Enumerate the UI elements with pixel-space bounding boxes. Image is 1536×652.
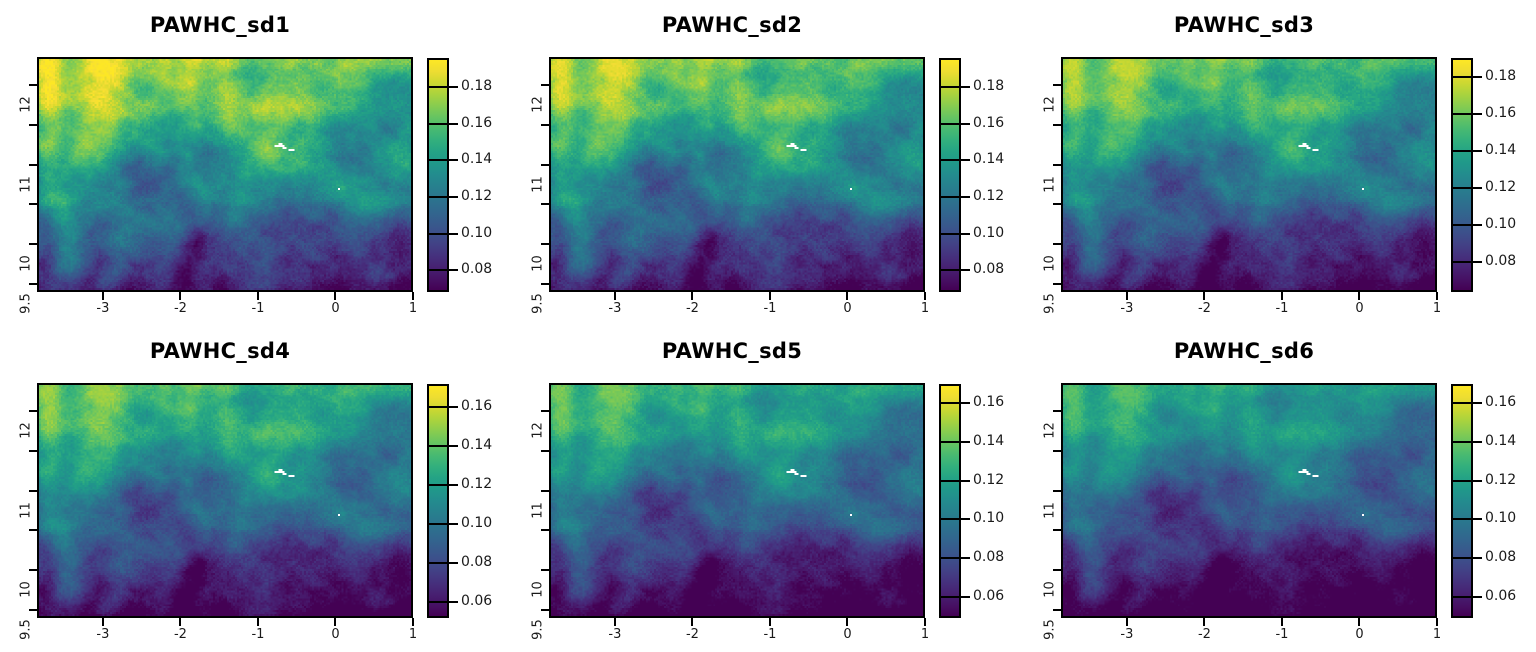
colorbar-gradient bbox=[429, 386, 447, 616]
colorbar-tick-inner bbox=[429, 445, 447, 447]
colorbar-tick-inner bbox=[941, 159, 959, 161]
y-axis-label: 11 bbox=[19, 490, 34, 530]
y-axis-label: 11 bbox=[531, 164, 546, 204]
colorbar-tick bbox=[1473, 557, 1482, 559]
panel-pawhc_sd5: PAWHC_sd51211109.5-3-2-1010.160.140.120.… bbox=[512, 326, 1024, 652]
colorbar-tick-inner bbox=[941, 557, 959, 559]
map-plot-area[interactable] bbox=[1061, 383, 1437, 618]
colorbar-tick bbox=[961, 480, 970, 482]
colorbar-label: 0.14 bbox=[461, 151, 492, 167]
panel-pawhc_sd4: PAWHC_sd41211109.5-3-2-1010.160.140.120.… bbox=[0, 326, 512, 652]
colorbar-tick-inner bbox=[1453, 557, 1471, 559]
colorbar-tick-inner bbox=[429, 523, 447, 525]
colorbar-tick-inner bbox=[1453, 261, 1471, 263]
colorbar-tick-inner bbox=[1453, 113, 1471, 115]
x-axis-label: -2 bbox=[160, 627, 200, 642]
raster-image bbox=[551, 59, 923, 290]
y-axis-label: 12 bbox=[19, 84, 34, 124]
colorbar-tick bbox=[961, 86, 970, 88]
x-axis-tick bbox=[846, 618, 848, 626]
x-axis-tick bbox=[769, 292, 771, 300]
x-axis-tick bbox=[412, 292, 414, 300]
colorbar-label: 0.18 bbox=[1485, 68, 1516, 84]
colorbar bbox=[427, 384, 449, 618]
colorbar-tick-inner bbox=[429, 86, 447, 88]
x-axis-label: -1 bbox=[750, 301, 790, 316]
colorbar-label: 0.12 bbox=[1485, 179, 1516, 195]
colorbar-label: 0.10 bbox=[1485, 510, 1516, 526]
colorbar-label: 0.16 bbox=[973, 115, 1004, 131]
colorbar-label: 0.16 bbox=[461, 398, 492, 414]
colorbar-tick bbox=[961, 196, 970, 198]
panel-pawhc_sd6: PAWHC_sd61211109.5-3-2-1010.160.140.120.… bbox=[1024, 326, 1536, 652]
x-axis-label: 1 bbox=[393, 627, 433, 642]
colorbar-tick-inner bbox=[1453, 596, 1471, 598]
x-axis-label: -2 bbox=[1184, 301, 1224, 316]
colorbar-label: 0.16 bbox=[1485, 394, 1516, 410]
figure-grid: PAWHC_sd11211109.5-3-2-1010.180.160.140.… bbox=[0, 0, 1536, 652]
y-axis-label: 10 bbox=[531, 244, 546, 284]
x-axis-tick bbox=[179, 292, 181, 300]
x-axis-label: 1 bbox=[393, 301, 433, 316]
map-plot-area[interactable] bbox=[37, 57, 413, 292]
colorbar-tick-inner bbox=[1453, 150, 1471, 152]
x-axis-tick bbox=[1203, 618, 1205, 626]
y-axis-label: 12 bbox=[531, 84, 546, 124]
colorbar-label: 0.14 bbox=[461, 437, 492, 453]
colorbar-tick bbox=[1473, 402, 1482, 404]
panel-title: PAWHC_sd5 bbox=[512, 339, 952, 363]
x-axis-label: -1 bbox=[750, 627, 790, 642]
colorbar-tick bbox=[449, 562, 458, 564]
colorbar-label: 0.10 bbox=[1485, 216, 1516, 232]
colorbar-tick-inner bbox=[1453, 402, 1471, 404]
x-axis-tick bbox=[1203, 292, 1205, 300]
colorbar-tick bbox=[449, 123, 458, 125]
colorbar-tick bbox=[961, 159, 970, 161]
colorbar-tick-inner bbox=[1453, 480, 1471, 482]
colorbar bbox=[427, 58, 449, 292]
x-axis-label: -2 bbox=[672, 301, 712, 316]
colorbar-tick-inner bbox=[429, 269, 447, 271]
x-axis-tick bbox=[412, 618, 414, 626]
x-axis-tick bbox=[1126, 618, 1128, 626]
colorbar-label: 0.16 bbox=[461, 115, 492, 131]
colorbar-tick bbox=[1473, 596, 1482, 598]
colorbar bbox=[939, 58, 961, 292]
colorbar-tick-inner bbox=[429, 406, 447, 408]
colorbar-tick bbox=[449, 445, 458, 447]
colorbar-tick bbox=[1473, 480, 1482, 482]
colorbar-label: 0.08 bbox=[1485, 253, 1516, 269]
colorbar-tick bbox=[1473, 187, 1482, 189]
x-axis-tick bbox=[1358, 618, 1360, 626]
map-plot-area[interactable] bbox=[549, 57, 925, 292]
colorbar-label: 0.12 bbox=[461, 188, 492, 204]
colorbar-label: 0.10 bbox=[973, 225, 1004, 241]
x-axis-label: -3 bbox=[595, 301, 635, 316]
x-axis-tick bbox=[614, 292, 616, 300]
colorbar-tick-inner bbox=[941, 269, 959, 271]
colorbar-label: 0.06 bbox=[461, 593, 492, 609]
y-axis-label: 10 bbox=[1043, 244, 1058, 284]
colorbar-tick bbox=[449, 601, 458, 603]
panel-title: PAWHC_sd2 bbox=[512, 13, 952, 37]
x-axis-tick bbox=[102, 618, 104, 626]
x-axis-label: -1 bbox=[1262, 627, 1302, 642]
x-axis-label: 0 bbox=[315, 301, 355, 316]
colorbar-tick-inner bbox=[941, 518, 959, 520]
colorbar-label: 0.18 bbox=[973, 78, 1004, 94]
panel-title: PAWHC_sd6 bbox=[1024, 339, 1464, 363]
x-axis-tick bbox=[1281, 618, 1283, 626]
x-axis-tick bbox=[924, 618, 926, 626]
colorbar-label: 0.14 bbox=[973, 151, 1004, 167]
colorbar-label: 0.06 bbox=[973, 588, 1004, 604]
colorbar-tick-inner bbox=[1453, 224, 1471, 226]
colorbar-tick-inner bbox=[941, 196, 959, 198]
x-axis-label: -1 bbox=[1262, 301, 1302, 316]
colorbar-tick bbox=[449, 269, 458, 271]
x-axis-label: -2 bbox=[1184, 627, 1224, 642]
y-axis-label: 9.5 bbox=[19, 610, 34, 650]
colorbar-label: 0.08 bbox=[973, 261, 1004, 277]
x-axis-tick bbox=[179, 618, 181, 626]
colorbar-tick-inner bbox=[1453, 187, 1471, 189]
colorbar-label: 0.16 bbox=[973, 394, 1004, 410]
y-axis-label: 11 bbox=[19, 164, 34, 204]
colorbar bbox=[1451, 384, 1473, 618]
colorbar-tick bbox=[961, 269, 970, 271]
panel-title: PAWHC_sd1 bbox=[0, 13, 440, 37]
x-axis-tick bbox=[769, 618, 771, 626]
colorbar-tick bbox=[449, 196, 458, 198]
x-axis-tick bbox=[614, 618, 616, 626]
x-axis-tick bbox=[334, 618, 336, 626]
y-axis-label: 12 bbox=[19, 410, 34, 450]
colorbar-tick-inner bbox=[429, 123, 447, 125]
colorbar-label: 0.06 bbox=[1485, 588, 1516, 604]
colorbar-label: 0.08 bbox=[461, 554, 492, 570]
y-axis-label: 9.5 bbox=[1043, 610, 1058, 650]
colorbar-tick bbox=[1473, 441, 1482, 443]
panel-title: PAWHC_sd4 bbox=[0, 339, 440, 363]
colorbar-tick bbox=[449, 523, 458, 525]
x-axis-tick bbox=[1358, 292, 1360, 300]
y-axis-label: 9.5 bbox=[1043, 284, 1058, 324]
colorbar-tick bbox=[1473, 150, 1482, 152]
x-axis-label: 0 bbox=[1339, 301, 1379, 316]
x-axis-label: -3 bbox=[595, 627, 635, 642]
colorbar-tick-inner bbox=[941, 596, 959, 598]
colorbar-tick bbox=[1473, 261, 1482, 263]
colorbar-tick-inner bbox=[941, 233, 959, 235]
x-axis-tick bbox=[1436, 618, 1438, 626]
raster-image bbox=[39, 59, 411, 290]
colorbar-tick-inner bbox=[429, 233, 447, 235]
colorbar-tick-inner bbox=[941, 441, 959, 443]
y-axis-label: 11 bbox=[1043, 490, 1058, 530]
x-axis-tick bbox=[1436, 292, 1438, 300]
colorbar-gradient bbox=[429, 60, 447, 290]
colorbar-tick bbox=[1473, 76, 1482, 78]
colorbar-label: 0.10 bbox=[461, 515, 492, 531]
colorbar-tick bbox=[449, 86, 458, 88]
colorbar-label: 0.08 bbox=[973, 549, 1004, 565]
colorbar-tick bbox=[961, 518, 970, 520]
x-axis-tick bbox=[257, 292, 259, 300]
x-axis-label: 0 bbox=[315, 627, 355, 642]
x-axis-label: 0 bbox=[1339, 627, 1379, 642]
colorbar-label: 0.12 bbox=[973, 472, 1004, 488]
colorbar-tick bbox=[961, 557, 970, 559]
map-plot-area[interactable] bbox=[37, 383, 413, 618]
x-axis-label: -1 bbox=[238, 627, 278, 642]
x-axis-tick bbox=[846, 292, 848, 300]
y-axis-label: 12 bbox=[531, 410, 546, 450]
colorbar-tick-inner bbox=[941, 480, 959, 482]
x-axis-label: -2 bbox=[160, 301, 200, 316]
colorbar-tick-inner bbox=[1453, 441, 1471, 443]
x-axis-tick bbox=[1281, 292, 1283, 300]
colorbar-label: 0.10 bbox=[461, 225, 492, 241]
colorbar-tick bbox=[1473, 113, 1482, 115]
x-axis-label: -2 bbox=[672, 627, 712, 642]
x-axis-tick bbox=[691, 292, 693, 300]
colorbar-tick bbox=[1473, 224, 1482, 226]
x-axis-tick bbox=[102, 292, 104, 300]
y-axis-label: 10 bbox=[19, 570, 34, 610]
colorbar-tick-inner bbox=[1453, 518, 1471, 520]
colorbar-tick-inner bbox=[429, 196, 447, 198]
panel-title: PAWHC_sd3 bbox=[1024, 13, 1464, 37]
x-axis-tick bbox=[334, 292, 336, 300]
colorbar-tick-inner bbox=[941, 86, 959, 88]
colorbar-tick bbox=[961, 596, 970, 598]
colorbar-gradient bbox=[941, 60, 959, 290]
colorbar-tick bbox=[961, 123, 970, 125]
map-plot-area[interactable] bbox=[1061, 57, 1437, 292]
x-axis-tick bbox=[1126, 292, 1128, 300]
colorbar-label: 0.14 bbox=[1485, 142, 1516, 158]
panel-pawhc_sd1: PAWHC_sd11211109.5-3-2-1010.180.160.140.… bbox=[0, 0, 512, 326]
y-axis-label: 9.5 bbox=[531, 610, 546, 650]
raster-image bbox=[39, 385, 411, 616]
y-axis-label: 11 bbox=[531, 490, 546, 530]
y-axis-label: 12 bbox=[1043, 410, 1058, 450]
y-axis-label: 9.5 bbox=[531, 284, 546, 324]
y-axis-label: 11 bbox=[1043, 164, 1058, 204]
y-axis-label: 10 bbox=[531, 570, 546, 610]
colorbar bbox=[1451, 58, 1473, 292]
x-axis-label: -3 bbox=[1107, 627, 1147, 642]
colorbar-label: 0.14 bbox=[1485, 433, 1516, 449]
colorbar-label: 0.12 bbox=[461, 476, 492, 492]
x-axis-label: -3 bbox=[83, 627, 123, 642]
x-axis-label: 1 bbox=[1417, 627, 1457, 642]
colorbar-tick bbox=[449, 406, 458, 408]
colorbar-label: 0.12 bbox=[973, 188, 1004, 204]
raster-image bbox=[1063, 59, 1435, 290]
x-axis-label: 0 bbox=[827, 627, 867, 642]
y-axis-label: 9.5 bbox=[19, 284, 34, 324]
colorbar-label: 0.14 bbox=[973, 433, 1004, 449]
colorbar-tick-inner bbox=[429, 159, 447, 161]
y-axis-label: 10 bbox=[1043, 570, 1058, 610]
x-axis-label: 1 bbox=[905, 627, 945, 642]
colorbar-tick-inner bbox=[429, 562, 447, 564]
colorbar-tick-inner bbox=[1453, 76, 1471, 78]
x-axis-label: -3 bbox=[83, 301, 123, 316]
colorbar-tick bbox=[449, 233, 458, 235]
colorbar-label: 0.08 bbox=[461, 261, 492, 277]
colorbar-tick bbox=[1473, 518, 1482, 520]
colorbar-tick-inner bbox=[941, 123, 959, 125]
colorbar-tick-inner bbox=[941, 402, 959, 404]
x-axis-label: -3 bbox=[1107, 301, 1147, 316]
colorbar-label: 0.16 bbox=[1485, 105, 1516, 121]
x-axis-label: 1 bbox=[1417, 301, 1457, 316]
colorbar-gradient bbox=[1453, 60, 1471, 290]
raster-image bbox=[1063, 385, 1435, 616]
colorbar-tick bbox=[961, 402, 970, 404]
y-axis-label: 10 bbox=[19, 244, 34, 284]
colorbar-tick bbox=[449, 484, 458, 486]
colorbar-tick-inner bbox=[429, 484, 447, 486]
x-axis-tick bbox=[691, 618, 693, 626]
panel-pawhc_sd3: PAWHC_sd31211109.5-3-2-1010.180.160.140.… bbox=[1024, 0, 1536, 326]
colorbar-gradient bbox=[1453, 386, 1471, 616]
x-axis-tick bbox=[257, 618, 259, 626]
colorbar-tick bbox=[961, 441, 970, 443]
colorbar-tick bbox=[961, 233, 970, 235]
x-axis-label: 0 bbox=[827, 301, 867, 316]
colorbar-gradient bbox=[941, 386, 959, 616]
x-axis-label: -1 bbox=[238, 301, 278, 316]
raster-image bbox=[551, 385, 923, 616]
panel-pawhc_sd2: PAWHC_sd21211109.5-3-2-1010.180.160.140.… bbox=[512, 0, 1024, 326]
x-axis-tick bbox=[924, 292, 926, 300]
colorbar-label: 0.08 bbox=[1485, 549, 1516, 565]
colorbar-label: 0.18 bbox=[461, 78, 492, 94]
colorbar bbox=[939, 384, 961, 618]
map-plot-area[interactable] bbox=[549, 383, 925, 618]
y-axis-label: 12 bbox=[1043, 84, 1058, 124]
colorbar-label: 0.10 bbox=[973, 510, 1004, 526]
colorbar-tick-inner bbox=[429, 601, 447, 603]
colorbar-label: 0.12 bbox=[1485, 472, 1516, 488]
colorbar-tick bbox=[449, 159, 458, 161]
x-axis-label: 1 bbox=[905, 301, 945, 316]
